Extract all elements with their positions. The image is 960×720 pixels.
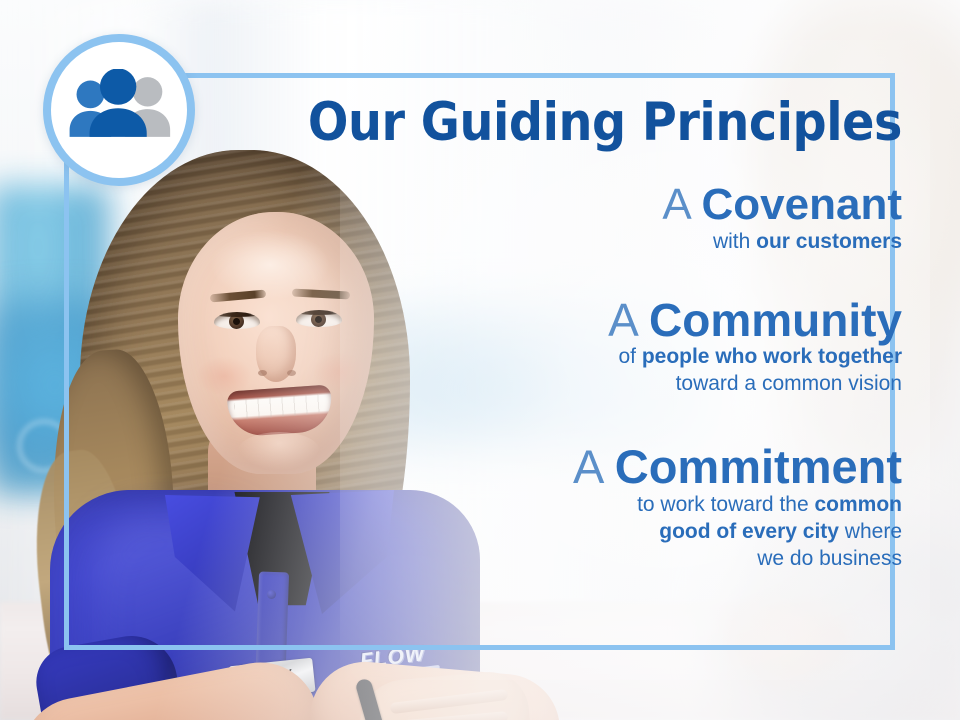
principle-word: Community bbox=[649, 294, 902, 346]
principle-subtext: of people who work together toward a com… bbox=[262, 344, 902, 398]
principle-article: A bbox=[662, 180, 689, 229]
blurred-customer-hand bbox=[705, 580, 865, 700]
principle-subtext: to work toward the common good of every … bbox=[262, 492, 902, 573]
principle-article: A bbox=[608, 294, 636, 346]
principle-word: Commitment bbox=[615, 440, 902, 493]
subtext-part: to work toward the bbox=[637, 493, 814, 516]
subtext-part: of bbox=[618, 345, 641, 368]
subtext-part-bold: good of every city bbox=[659, 520, 839, 543]
shirt-button bbox=[267, 590, 276, 599]
subtext-part: where bbox=[839, 520, 902, 543]
principle-article: A bbox=[573, 440, 602, 493]
principle-community: A Community of people who work together … bbox=[262, 296, 902, 399]
principle-commitment: A Commitment to work toward the common g… bbox=[262, 442, 902, 572]
principle-covenant: A Covenant with our customers bbox=[262, 182, 902, 256]
employee-eye-left bbox=[214, 312, 260, 329]
principle-word: Covenant bbox=[702, 180, 902, 229]
principles-list: A Covenant with our customers A Communit… bbox=[262, 182, 902, 578]
principle-subtext: with our customers bbox=[262, 229, 902, 256]
subtext-part-bold: common bbox=[814, 493, 902, 516]
graphic-canvas: FLOW AUTOMOTIVE FLOW Our bbox=[0, 0, 960, 720]
subtext-part-bold: people who work together bbox=[642, 345, 902, 368]
subtext-part-bold: our customers bbox=[756, 230, 902, 253]
page-title: Our Guiding Principles bbox=[90, 96, 902, 149]
principle-heading: A Covenant bbox=[262, 182, 902, 229]
subtext-part: we do business bbox=[757, 547, 902, 570]
subtext-part: with bbox=[713, 230, 756, 253]
principle-heading: A Community bbox=[262, 296, 902, 345]
subtext-part: toward a common vision bbox=[676, 372, 902, 395]
principle-heading: A Commitment bbox=[262, 442, 902, 492]
